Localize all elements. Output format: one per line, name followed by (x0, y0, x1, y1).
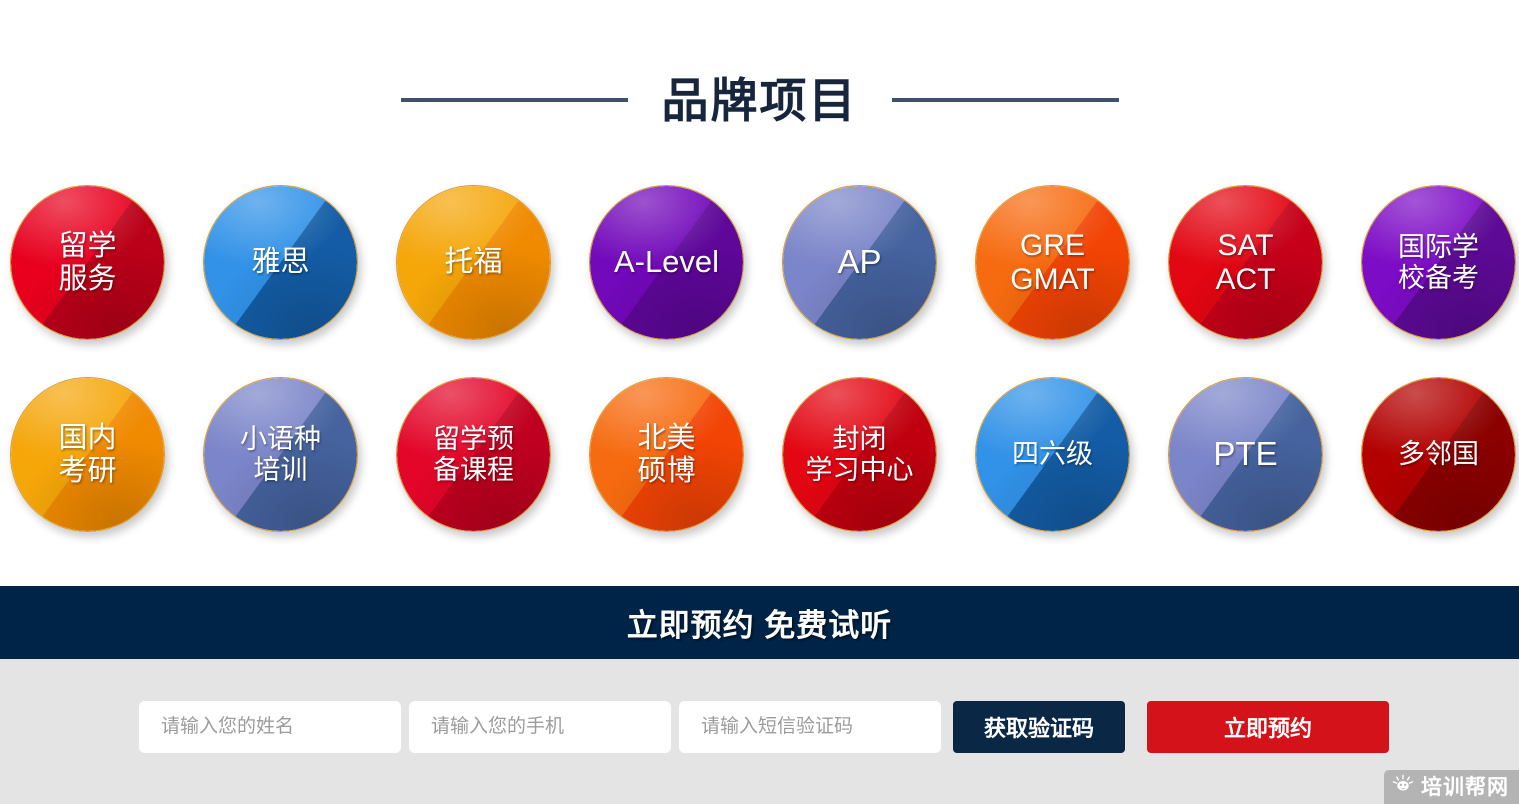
program-label: 雅思 (245, 246, 315, 278)
program-label: PTE (1207, 436, 1283, 473)
program-bubble[interactable]: 国内 考研 (10, 377, 165, 532)
program-label: 留学 服务 (52, 230, 122, 295)
cta-banner: 立即预约 免费试听 (0, 586, 1519, 659)
program-label: 北美 硕博 (631, 422, 701, 487)
booking-form-strip: 获取验证码 立即预约 (0, 659, 1519, 804)
program-bubble[interactable]: AP (782, 185, 937, 340)
program-bubble[interactable]: 托福 (396, 185, 551, 340)
program-bubble[interactable]: GRE GMAT (975, 185, 1130, 340)
program-bubble[interactable]: 雅思 (203, 185, 358, 340)
program-label: 托福 (438, 246, 508, 278)
program-label: 封闭 学习中心 (800, 424, 920, 484)
name-input[interactable] (139, 701, 401, 753)
sms-code-input[interactable] (679, 701, 941, 753)
submit-booking-button[interactable]: 立即预约 (1147, 701, 1389, 753)
program-label: AP (831, 244, 887, 281)
program-label: 留学预 备课程 (427, 424, 520, 484)
booking-form: 获取验证码 立即预约 (139, 701, 1389, 753)
program-bubble[interactable]: 留学 服务 (10, 185, 165, 340)
cta-banner-text: 立即预约 免费试听 (627, 600, 893, 645)
watermark-text: 培训帮网 (1421, 777, 1509, 798)
program-bubble[interactable]: 多邻国 (1361, 377, 1516, 532)
program-grid: 留学 服务雅思托福A-LevelAPGRE GMATSAT ACT国际学 校备考… (10, 185, 1510, 532)
brand-programs-page: 品牌项目 留学 服务雅思托福A-LevelAPGRE GMATSAT ACT国际… (0, 0, 1519, 804)
program-bubble[interactable]: PTE (1168, 377, 1323, 532)
page-title: 品牌项目 (662, 77, 858, 124)
phone-input[interactable] (409, 701, 671, 753)
program-bubble[interactable]: A-Level (589, 185, 744, 340)
program-label: 多邻国 (1392, 439, 1485, 469)
program-bubble[interactable]: 国际学 校备考 (1361, 185, 1516, 340)
program-label: 国际学 校备考 (1392, 232, 1485, 292)
program-label: SAT ACT (1210, 229, 1282, 296)
sun-face-icon (1392, 774, 1414, 801)
program-bubble[interactable]: 留学预 备课程 (396, 377, 551, 532)
program-label: 小语种 培训 (234, 424, 327, 484)
program-label: GRE GMAT (1004, 229, 1100, 296)
site-watermark: 培训帮网 (1384, 770, 1519, 804)
program-label: A-Level (608, 245, 725, 280)
program-bubble[interactable]: 四六级 (975, 377, 1130, 532)
heading-rule-left (401, 98, 628, 102)
program-label: 国内 考研 (52, 422, 122, 487)
program-label: 四六级 (1006, 439, 1099, 469)
program-row-2: 国内 考研小语种 培训留学预 备课程北美 硕博封闭 学习中心四六级PTE多邻国 (10, 377, 1510, 532)
section-heading: 品牌项目 (0, 60, 1519, 140)
program-bubble[interactable]: 北美 硕博 (589, 377, 744, 532)
program-bubble[interactable]: SAT ACT (1168, 185, 1323, 340)
program-bubble[interactable]: 封闭 学习中心 (782, 377, 937, 532)
program-row-1: 留学 服务雅思托福A-LevelAPGRE GMATSAT ACT国际学 校备考 (10, 185, 1510, 340)
get-verification-code-button[interactable]: 获取验证码 (953, 701, 1125, 753)
heading-rule-right (892, 98, 1119, 102)
program-bubble[interactable]: 小语种 培训 (203, 377, 358, 532)
